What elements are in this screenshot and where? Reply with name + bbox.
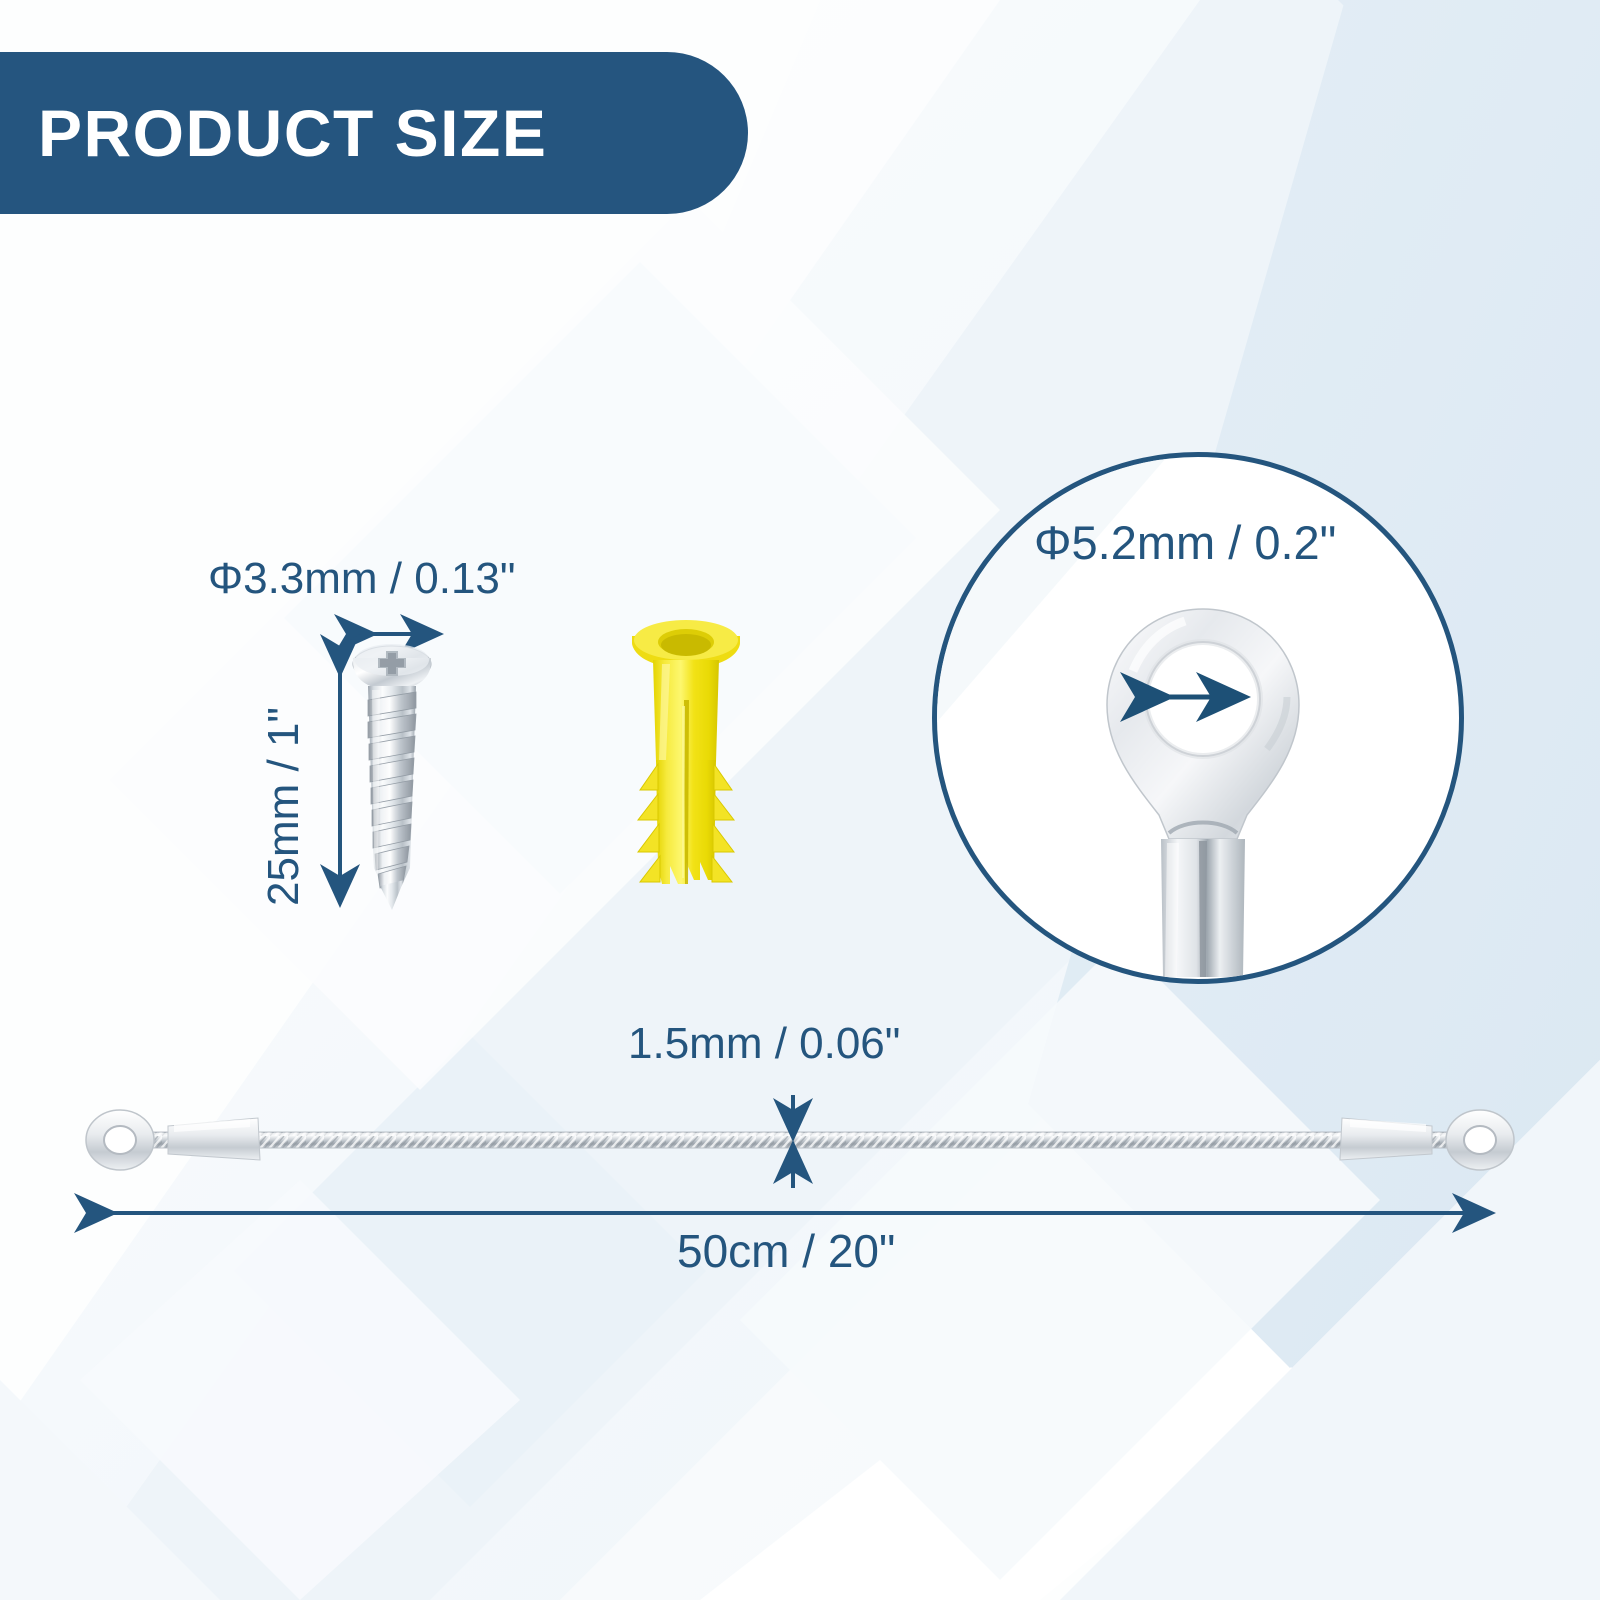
steel-cable-graphic: [150, 1132, 1450, 1148]
cable-left-terminal: [86, 1110, 260, 1170]
cable-illustration-group: [0, 0, 1600, 1600]
product-size-infographic: PRODUCT SIZE Φ3.3mm / 0.13" 25mm / 1": [0, 0, 1600, 1600]
cable-right-terminal: [1340, 1110, 1514, 1170]
